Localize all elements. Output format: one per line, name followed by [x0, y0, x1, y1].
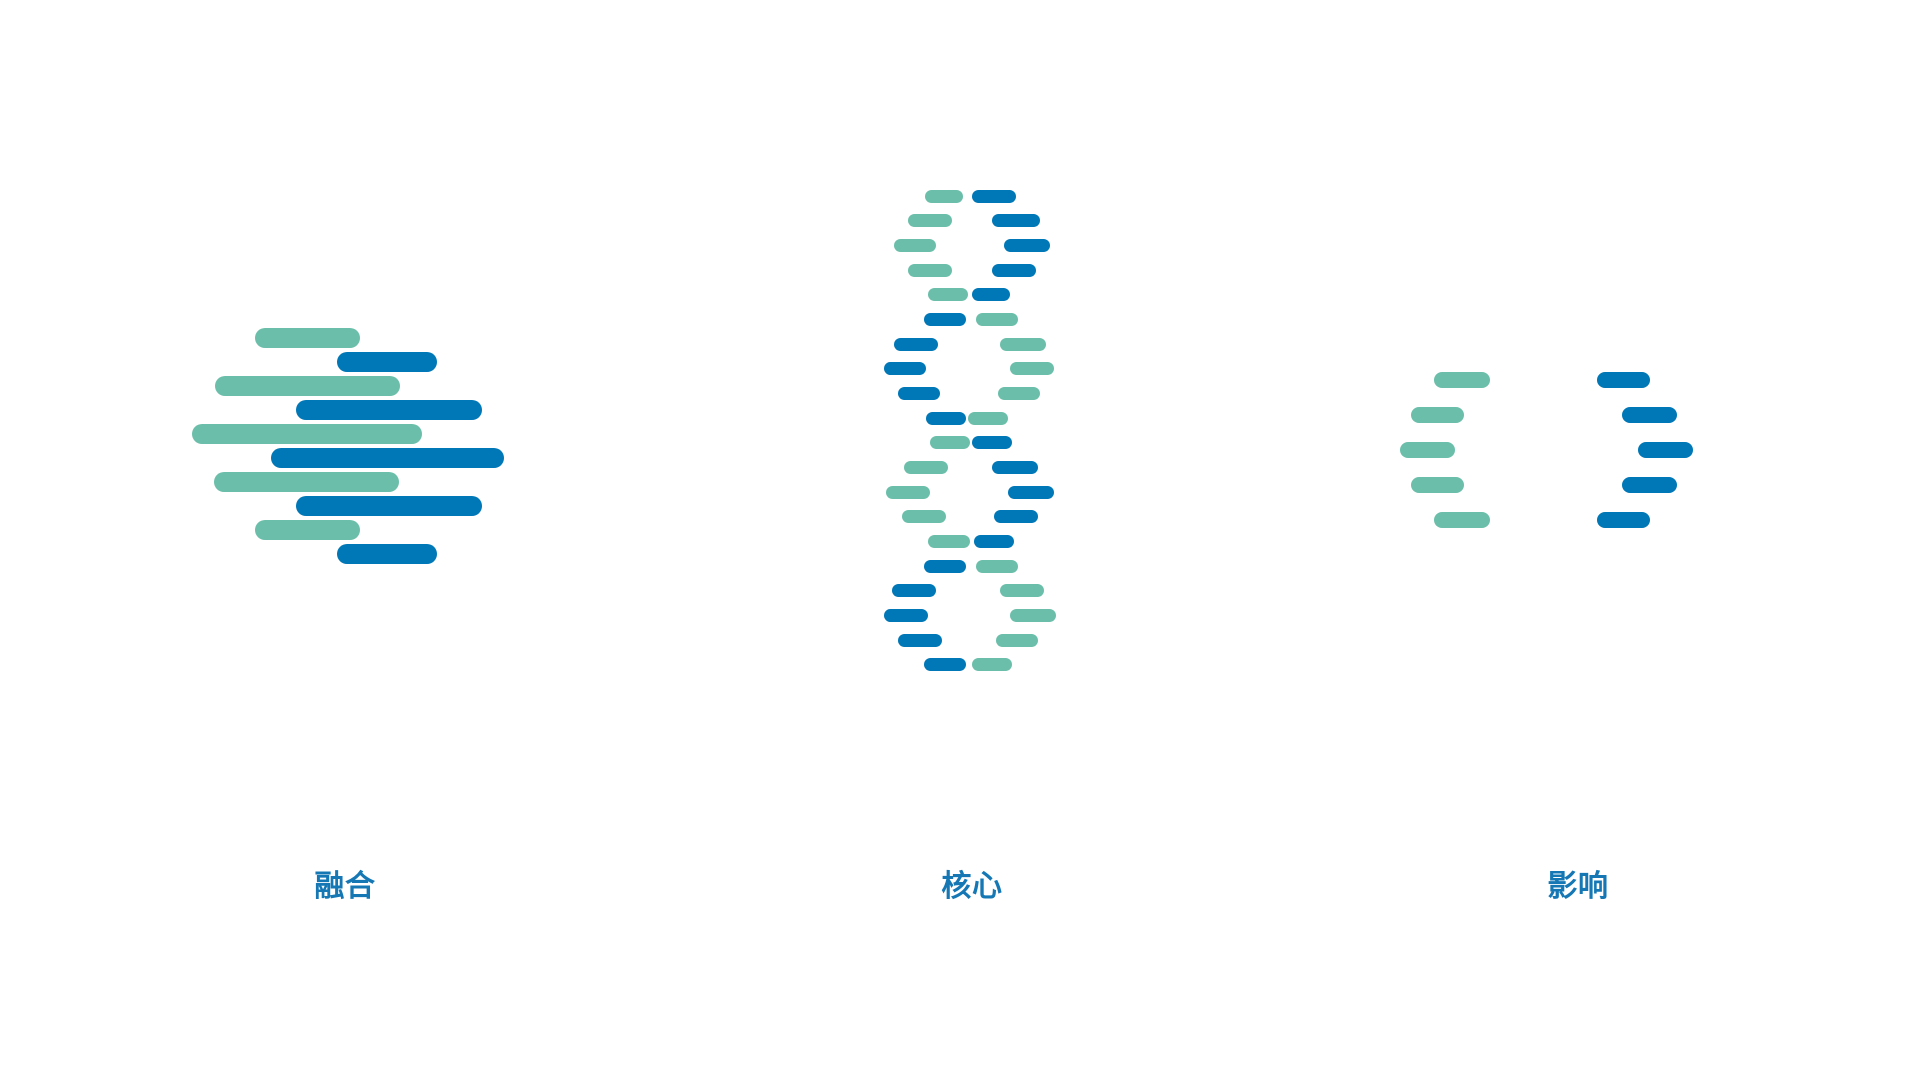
bar-segment [894, 239, 936, 252]
bar-segment [192, 424, 422, 444]
bar-segment [992, 214, 1040, 227]
bar-segment [974, 535, 1014, 548]
bar-segment [271, 448, 504, 468]
bar-segment [924, 560, 966, 573]
bar-segment [928, 535, 970, 548]
bar-segment [930, 436, 970, 449]
bar-segment [892, 584, 936, 597]
bar-segment [992, 264, 1036, 277]
cluster-label-0: 融合 [314, 872, 375, 902]
bar-segment [337, 352, 437, 372]
bar-segment [1622, 477, 1677, 493]
bar-segment [904, 461, 948, 474]
bar-segment [972, 436, 1012, 449]
bar-segment [1434, 372, 1490, 388]
bar-segment [1010, 609, 1056, 622]
bar-segment [255, 328, 360, 348]
bar-segment [972, 288, 1010, 301]
bar-segment [928, 288, 968, 301]
bar-segment [924, 313, 966, 326]
bar-segment [992, 461, 1038, 474]
bar-segment [894, 338, 938, 351]
bar-segment [886, 486, 930, 499]
bar-segment [1597, 372, 1650, 388]
bar-segment [1622, 407, 1677, 423]
cluster-impact [0, 0, 1920, 1080]
bar-segment [1000, 338, 1046, 351]
bar-segment [968, 412, 1008, 425]
bar-segment [898, 634, 942, 647]
bar-segment [337, 544, 437, 564]
bar-segment [925, 190, 963, 203]
bar-segment [996, 634, 1038, 647]
bar-segment [215, 376, 400, 396]
bar-segment [998, 387, 1040, 400]
bar-segment [296, 496, 482, 516]
bar-segment [908, 264, 952, 277]
bar-segment [902, 510, 946, 523]
bar-segment [1638, 442, 1693, 458]
bar-segment [1400, 442, 1455, 458]
bar-segment [1004, 239, 1050, 252]
bar-segment [924, 658, 966, 671]
bar-segment [972, 658, 1012, 671]
cluster-label-1: 核心 [941, 872, 1002, 902]
bar-segment [884, 609, 928, 622]
bar-segment [1008, 486, 1054, 499]
bar-segment [1597, 512, 1650, 528]
bar-segment [908, 214, 952, 227]
cluster-label-2: 影响 [1547, 872, 1608, 902]
bar-segment [972, 190, 1016, 203]
bar-segment [994, 510, 1038, 523]
infographic-canvas: 融合核心影响 [0, 0, 1920, 1080]
bar-segment [214, 472, 399, 492]
bar-segment [898, 387, 940, 400]
bar-segment [1411, 477, 1464, 493]
bar-segment [976, 560, 1018, 573]
bar-segment [976, 313, 1018, 326]
bar-segment [1434, 512, 1490, 528]
bar-segment [1000, 584, 1044, 597]
bar-segment [1010, 362, 1054, 375]
cluster-fusion [0, 0, 1920, 1080]
bar-segment [255, 520, 360, 540]
bar-segment [1411, 407, 1464, 423]
cluster-core [0, 0, 1920, 1080]
bar-segment [296, 400, 482, 420]
bar-segment [926, 412, 966, 425]
bar-segment [884, 362, 926, 375]
